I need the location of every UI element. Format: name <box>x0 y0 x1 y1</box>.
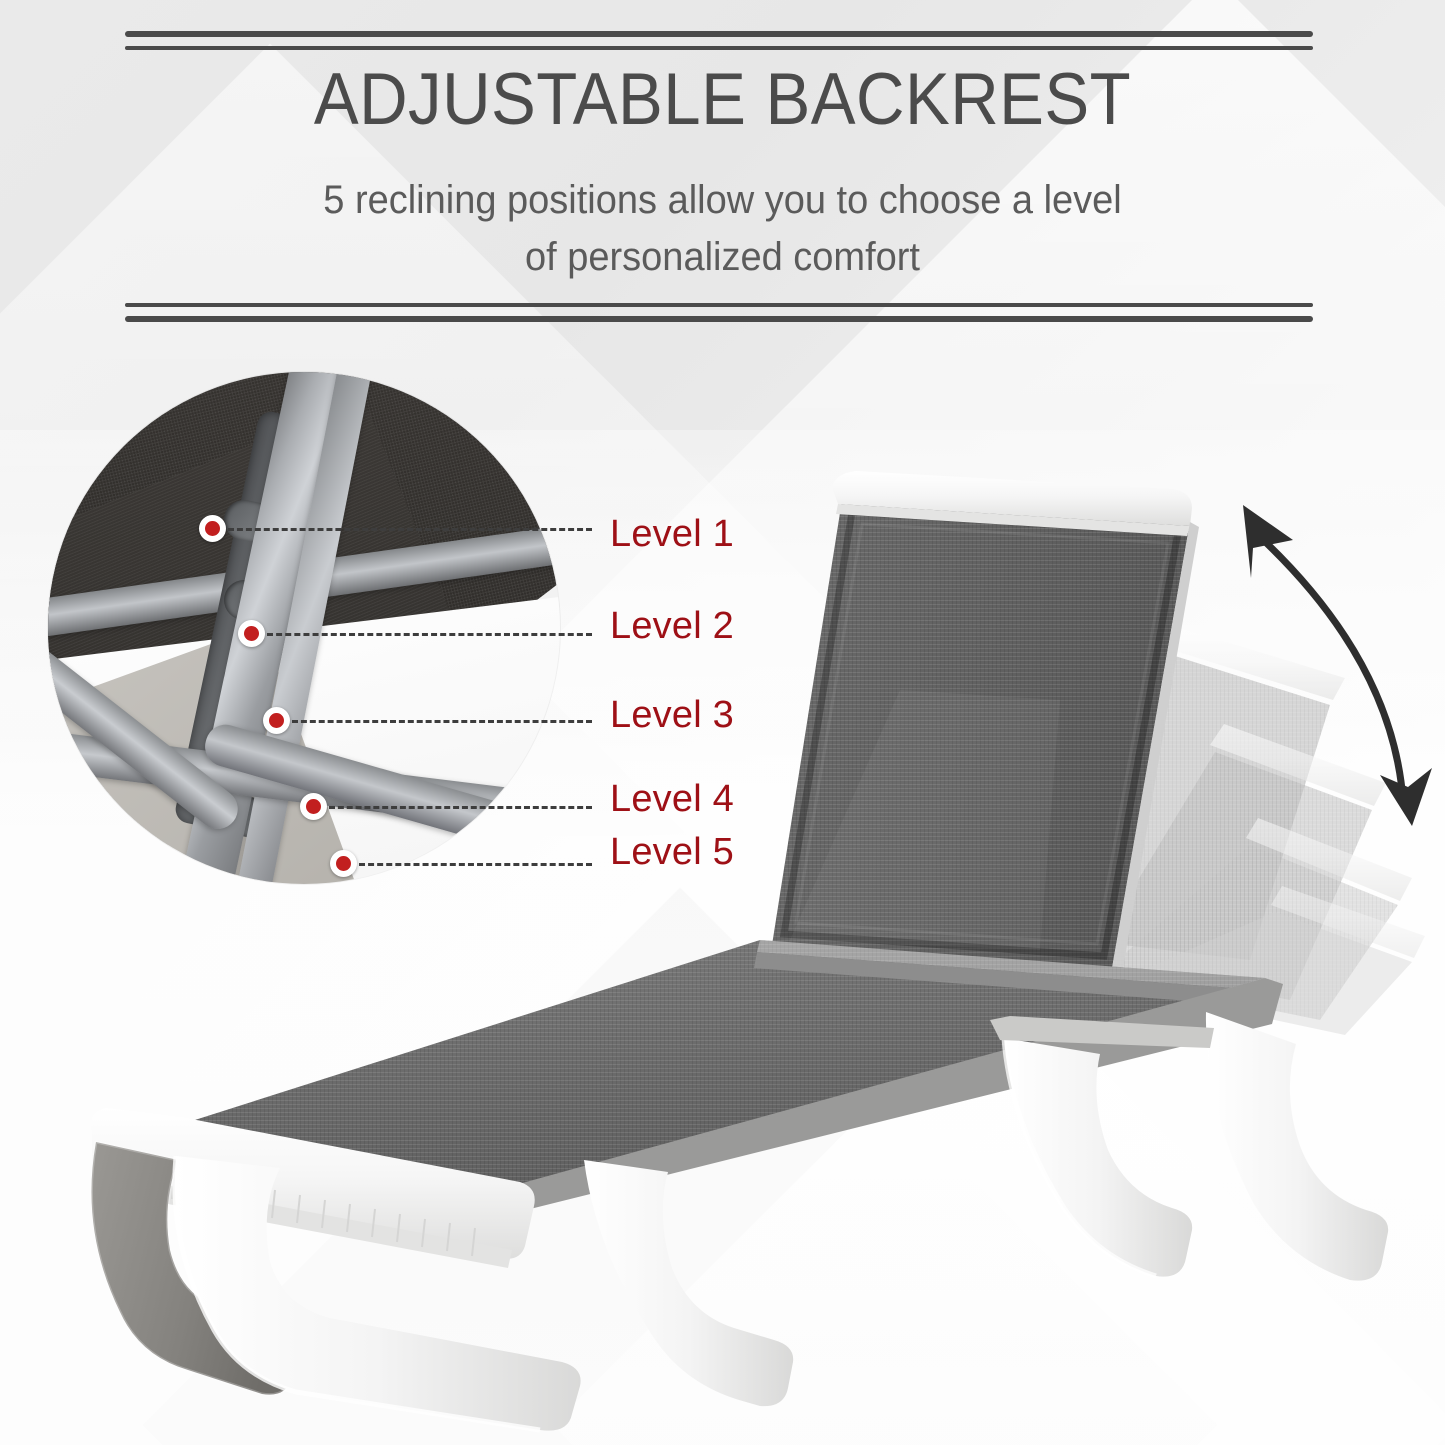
level-label-5: Level 5 <box>610 831 734 874</box>
ghost-recline-position-3 <box>1090 724 1386 1000</box>
level-marker-5 <box>330 850 357 877</box>
level-marker-2 <box>238 620 265 647</box>
leg-rear-right-outer <box>1206 1012 1388 1281</box>
level-label-3: Level 3 <box>610 694 734 737</box>
level-label-2: Level 2 <box>610 605 734 648</box>
level-marker-4 <box>300 793 327 820</box>
recline-direction-arrow <box>1258 535 1403 800</box>
level-label-4: Level 4 <box>610 778 734 821</box>
bottom-divider-rules <box>125 303 1313 322</box>
arrow-head-down <box>1380 768 1432 826</box>
ghost-recline-position-2 <box>1080 628 1345 960</box>
page-title: ADJUSTABLE BACKREST <box>58 58 1387 141</box>
arrow-head-up <box>1243 505 1293 578</box>
leg-rear-right <box>1004 1038 1192 1277</box>
background-shape-3 <box>143 888 1218 1445</box>
divider-line <box>125 31 1313 37</box>
divider-line <box>125 316 1313 322</box>
page-subtitle: 5 reclining positions allow you to choos… <box>36 172 1409 286</box>
leader-line-level-4 <box>329 806 592 809</box>
leader-line-level-5 <box>359 863 592 866</box>
top-divider-rules <box>125 31 1313 50</box>
level-marker-3 <box>263 707 290 734</box>
infographic-canvas: ADJUSTABLE BACKREST 5 reclining position… <box>0 0 1445 1445</box>
leader-line-level-2 <box>267 633 592 636</box>
seat-platform <box>168 940 1283 1216</box>
leg-middle <box>584 1160 793 1406</box>
subtitle-line-1: 5 reclining positions allow you to choos… <box>36 172 1409 229</box>
leader-line-level-1 <box>228 528 592 531</box>
divider-line <box>125 303 1313 307</box>
ribbing <box>147 1166 475 1256</box>
level-label-1: Level 1 <box>610 513 734 556</box>
divider-line <box>125 46 1313 50</box>
leg-front-left-outer <box>175 1156 581 1431</box>
level-marker-1 <box>199 515 226 542</box>
foot-end-cap <box>91 1108 535 1268</box>
leg-front-left <box>91 1142 300 1395</box>
header-block: ADJUSTABLE BACKREST 5 reclining position… <box>0 0 1445 345</box>
backrest-panel <box>772 471 1199 974</box>
leader-line-level-3 <box>292 720 592 723</box>
background-shape-4 <box>552 972 1445 1445</box>
ghost-recline-position-5 <box>1110 886 1425 1035</box>
subtitle-line-2: of personalized comfort <box>36 229 1409 286</box>
ghost-recline-position-4 <box>1100 818 1412 1020</box>
leg-brace <box>990 1016 1214 1048</box>
